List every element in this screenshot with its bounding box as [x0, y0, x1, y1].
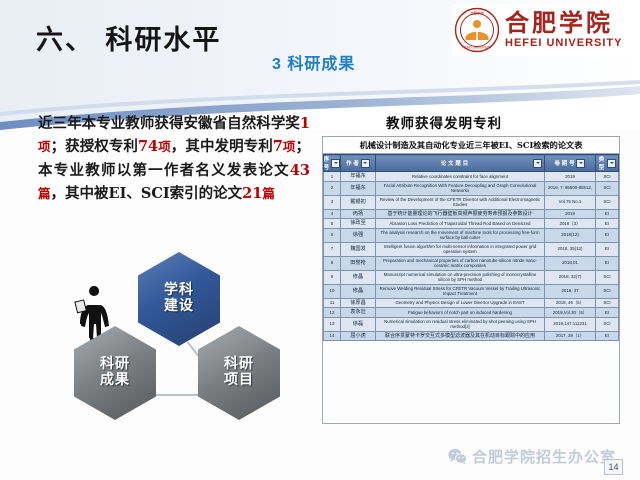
patent-count: 74	[138, 138, 158, 155]
cell-author: 袁永壮	[341, 308, 376, 318]
cell-volume: Vol.75 No.1	[545, 195, 596, 209]
hexagon-label-line2: 成果	[100, 372, 130, 388]
col-header-author-label: 作 者	[346, 159, 359, 167]
cell-no: 12	[324, 308, 341, 318]
cell-author: 徐强	[341, 228, 376, 242]
cell-author: 丙扬	[341, 209, 376, 219]
cell-author: 屈小虎	[341, 331, 376, 341]
table-row[interactable]: 14屈小虎联合序贯蒙特卡罗交互式多模型滤波器及其在机动目标跟踪中的应用2017,…	[324, 331, 619, 341]
table-header-row: 序 号 作 者 论 文 题 目 卷 期 号 类 型	[324, 155, 619, 172]
col-header-type-label: 类 型	[598, 155, 605, 171]
cell-no: 7	[324, 242, 341, 256]
cell-no: 11	[324, 298, 341, 308]
para-line-4a: 第一作者名义发表论文	[132, 162, 289, 179]
hexagon-label-line1: 学科	[164, 282, 194, 298]
table-row[interactable]: 4丙扬基于统计能量理论的飞行器壁板高频声振疲劳寿命预报及参数设计2019EI	[324, 209, 619, 219]
hex-connector-bottom	[156, 394, 198, 396]
cell-type: EI	[596, 242, 619, 256]
paper-count: 43	[290, 162, 310, 179]
filter-dropdown-icon[interactable]	[361, 159, 370, 168]
cell-volume: 2018, 35(12)	[545, 242, 596, 256]
cell-author: 徐厚昌	[341, 298, 376, 308]
para-line-3a: 其中发明专利	[185, 138, 272, 155]
cell-volume: 2019,147:111231	[545, 317, 596, 331]
table-row[interactable]: 5徐政至Abrasion Loss Prediction of Trapezoi…	[324, 219, 619, 229]
cell-title: Facial Attribute Recognition With Featur…	[376, 181, 545, 195]
cell-volume: 2018, 32(7)	[545, 270, 596, 284]
cell-no: 14	[324, 331, 341, 341]
col-header-volume[interactable]: 卷 期 号	[545, 155, 596, 172]
cell-author: 戴银初	[341, 195, 376, 209]
cell-type: SCI	[596, 284, 619, 298]
cell-type: EI	[596, 219, 619, 229]
cell-no: 3	[324, 195, 341, 209]
col-header-title-label: 论 文 题 目	[378, 159, 531, 167]
cell-title: 基于统计能量理论的飞行器壁板高频声振疲劳寿命预报及参数设计	[376, 209, 545, 219]
cell-type: SCI	[596, 195, 619, 209]
cell-title: Intelligent fusion algorithm for multi-s…	[376, 242, 545, 256]
para-line-4b: ，其中	[51, 185, 95, 202]
award-count: 1	[300, 115, 310, 132]
col-header-author[interactable]: 作 者	[341, 155, 376, 172]
cell-type: SCI	[596, 317, 619, 331]
table-row[interactable]: 13徐磊Numerical simulation on residual str…	[324, 317, 619, 331]
cell-no: 1	[324, 172, 341, 182]
cell-type: EI	[596, 331, 619, 341]
patent-unit: 项	[158, 139, 171, 154]
panel-title: 教师获得发明专利	[386, 112, 502, 132]
col-header-title[interactable]: 论 文 题 目	[376, 155, 545, 172]
table-row[interactable]: 7魏国发Intelligent fusion algorithm for mul…	[324, 242, 619, 256]
university-logo: 合肥学院 HEFEI UNIVERSITY 合肥学院 HEFEI UNIVERS…	[452, 4, 634, 56]
table-row[interactable]: 2年福东Facial Attribute Recognition With Fe…	[324, 181, 619, 195]
cell-author: 徐磊	[341, 317, 376, 331]
filter-dropdown-icon[interactable]	[331, 159, 340, 168]
cell-title: 联合序贯蒙特卡罗交互式多模型滤波器及其在机动目标跟踪中的应用	[376, 331, 545, 341]
table-row[interactable]: 10修晶Remove Welding Residual Stress for C…	[324, 284, 619, 298]
cell-no: 13	[324, 317, 341, 331]
indexed-paper-count: 21	[242, 185, 262, 202]
svg-text:合肥学院: 合肥学院	[470, 11, 484, 16]
watermark: 合肥学院招生办公室	[448, 446, 616, 467]
hexagon-label: 科研 成果	[100, 357, 130, 388]
cell-author: 年福东	[341, 181, 376, 195]
table-row[interactable]: 8田誉枪Preparation and mechanical propertie…	[324, 256, 619, 270]
cell-volume: 2018, 46（5）	[545, 298, 596, 308]
table-row[interactable]: 6徐强The analysis research on the movement…	[324, 228, 619, 242]
col-header-no-label: 序 号	[324, 155, 329, 171]
cell-title: Geometry and Physics Design of Lower Div…	[376, 298, 545, 308]
table-row[interactable]: 12袁永壮Fatigue behaviors of notch part on …	[324, 308, 619, 318]
cell-volume: 2018,Vol.30（6）	[545, 308, 596, 318]
award-unit: 项	[38, 139, 51, 154]
invention-patent-unit: 项	[283, 139, 296, 154]
summary-paragraph: 近三年本专业教师获得安徽省自然科学奖1项；获授权专利74项，其中发明专利7项；本…	[38, 112, 310, 206]
slide-canvas: 六、 科研水平 3 科研成果 合肥学院 HEFEI UNIVERSITY 合肥学…	[0, 0, 640, 480]
hexagon-diagram: 学科 建设 科研 成果 科研 项目	[52, 248, 314, 430]
cell-title: Numerical simulation on residual stress …	[376, 317, 545, 331]
table-row[interactable]: 9修晶Manuscript numerical simulation on ul…	[324, 270, 619, 284]
logo-name-cn: 合肥学院	[505, 11, 622, 35]
cell-no: 4	[324, 209, 341, 219]
logo-name-en: HEFEI UNIVERSITY	[505, 38, 622, 49]
cell-no: 9	[324, 270, 341, 284]
para-line-1: 近三年本专业教师获得安徽省自	[38, 115, 242, 132]
cell-no: 2	[324, 181, 341, 195]
table-body: 1年福东Relative coordinates constraint for …	[324, 172, 619, 341]
university-seal-icon: 合肥学院 HEFEI UNIVERSITY	[454, 7, 500, 53]
table-row[interactable]: 11徐厚昌Geometry and Physics Design of Lowe…	[324, 298, 619, 308]
page-number: 14	[604, 459, 623, 475]
cell-type: SCI	[596, 298, 619, 308]
paper-unit: 篇	[38, 186, 51, 201]
para-line-2b: ；获授权专利	[51, 138, 138, 155]
cell-author: 年福东	[341, 172, 376, 182]
cell-title: The analysis research on the movement of…	[376, 228, 545, 242]
cell-type: EI	[596, 209, 619, 219]
cell-author: 魏国发	[341, 242, 376, 256]
hexagon-label-line1: 科研	[224, 356, 254, 372]
cell-volume: 2017, 39（1）	[545, 331, 596, 341]
hexagon-shape: 科研 项目	[198, 326, 280, 420]
cell-volume: 2018, 37	[545, 284, 596, 298]
cell-title: Remove Welding Residual Stress for CFETR…	[376, 284, 545, 298]
para-line-2c: ，	[171, 138, 186, 155]
col-header-volume-label: 卷 期 号	[555, 159, 575, 167]
cell-no: 10	[324, 284, 341, 298]
cell-no: 6	[324, 228, 341, 242]
cell-author: 田誉枪	[341, 256, 376, 270]
cell-no: 5	[324, 219, 341, 229]
cell-volume: 2019	[545, 172, 596, 182]
cell-type: SCI	[596, 172, 619, 182]
cell-no: 8	[324, 256, 341, 270]
filter-dropdown-icon[interactable]	[576, 159, 585, 168]
cell-type: EI	[596, 308, 619, 318]
cell-title: Abrasion Loss Prediction of Trapezoidal …	[376, 219, 545, 229]
table-row[interactable]: 3戴银初Review of the Development of the CFE…	[324, 195, 619, 209]
page-title: 六、 科研水平	[36, 18, 221, 57]
cell-author: 徐政至	[341, 219, 376, 229]
sub-title: 3 科研成果	[272, 50, 355, 74]
cell-volume: 2018(12)	[545, 228, 596, 242]
filter-dropdown-icon[interactable]	[607, 159, 616, 168]
papers-table-frame: 机械设计制造及其自动化专业近三年被EI、SCI检索的论文表 序 号 作 者 论 …	[322, 136, 620, 424]
cell-type: SCI	[596, 270, 619, 284]
table-row[interactable]: 1年福东Relative coordinates constraint for …	[324, 172, 619, 182]
svg-text:HEFEI UNIVERSITY: HEFEI UNIVERSITY	[462, 46, 492, 50]
hexagon-label-line2: 建设	[164, 298, 194, 314]
watermark-text: 合肥学院招生办公室	[472, 446, 616, 467]
hexagon-label: 科研 项目	[224, 357, 254, 388]
cell-volume: 2018（3）	[545, 219, 596, 229]
cell-type: EI	[596, 228, 619, 242]
cell-volume: 2018,01	[545, 256, 596, 270]
col-header-no[interactable]: 序 号	[324, 155, 341, 172]
para-line-2a: 然科学奖	[242, 115, 300, 132]
cell-type: EI	[596, 256, 619, 270]
cell-author: 修晶	[341, 284, 376, 298]
logo-text: 合肥学院 HEFEI UNIVERSITY	[505, 11, 622, 49]
hexagon-label: 学科 建设	[164, 283, 194, 314]
papers-table: 序 号 作 者 论 文 题 目 卷 期 号 类 型 1年福东Relative c…	[323, 154, 619, 341]
hexagon-label-line2: 项目	[224, 372, 254, 388]
col-header-type[interactable]: 类 型	[596, 155, 619, 172]
cell-title: Fatigue behaviors of notch part on induc…	[376, 308, 545, 318]
cell-volume: 2019, 7: 85500-85512,	[545, 181, 596, 195]
para-line-5a: 被EI、SCI索引的论文	[94, 185, 242, 202]
filter-dropdown-icon[interactable]	[533, 159, 542, 168]
cell-title: Relative coordinates constraint for face…	[376, 172, 545, 182]
table-head: 序 号 作 者 论 文 题 目 卷 期 号 类 型	[324, 155, 619, 172]
indexed-paper-unit: 篇	[262, 186, 275, 201]
cell-title: Manuscript numerical simulation on ultra…	[376, 270, 545, 284]
cell-title: Preparation and mechanical properties of…	[376, 256, 545, 270]
cell-title: Review of the Development of the CFETR D…	[376, 195, 545, 209]
cell-author: 修晶	[341, 270, 376, 284]
wechat-icon	[448, 448, 467, 465]
hexagon-keyan-chengguo[interactable]: 科研 成果	[74, 326, 156, 420]
cell-volume: 2019	[545, 209, 596, 219]
cell-type: SCI	[596, 181, 619, 195]
table-caption: 机械设计制造及其自动化专业近三年被EI、SCI检索的论文表	[323, 137, 619, 154]
invention-patent-count: 7	[273, 138, 283, 155]
hexagon-shape: 科研 成果	[74, 326, 156, 420]
hexagon-keyan-xiangmu[interactable]: 科研 项目	[198, 326, 280, 420]
hexagon-label-line1: 科研	[100, 356, 130, 372]
